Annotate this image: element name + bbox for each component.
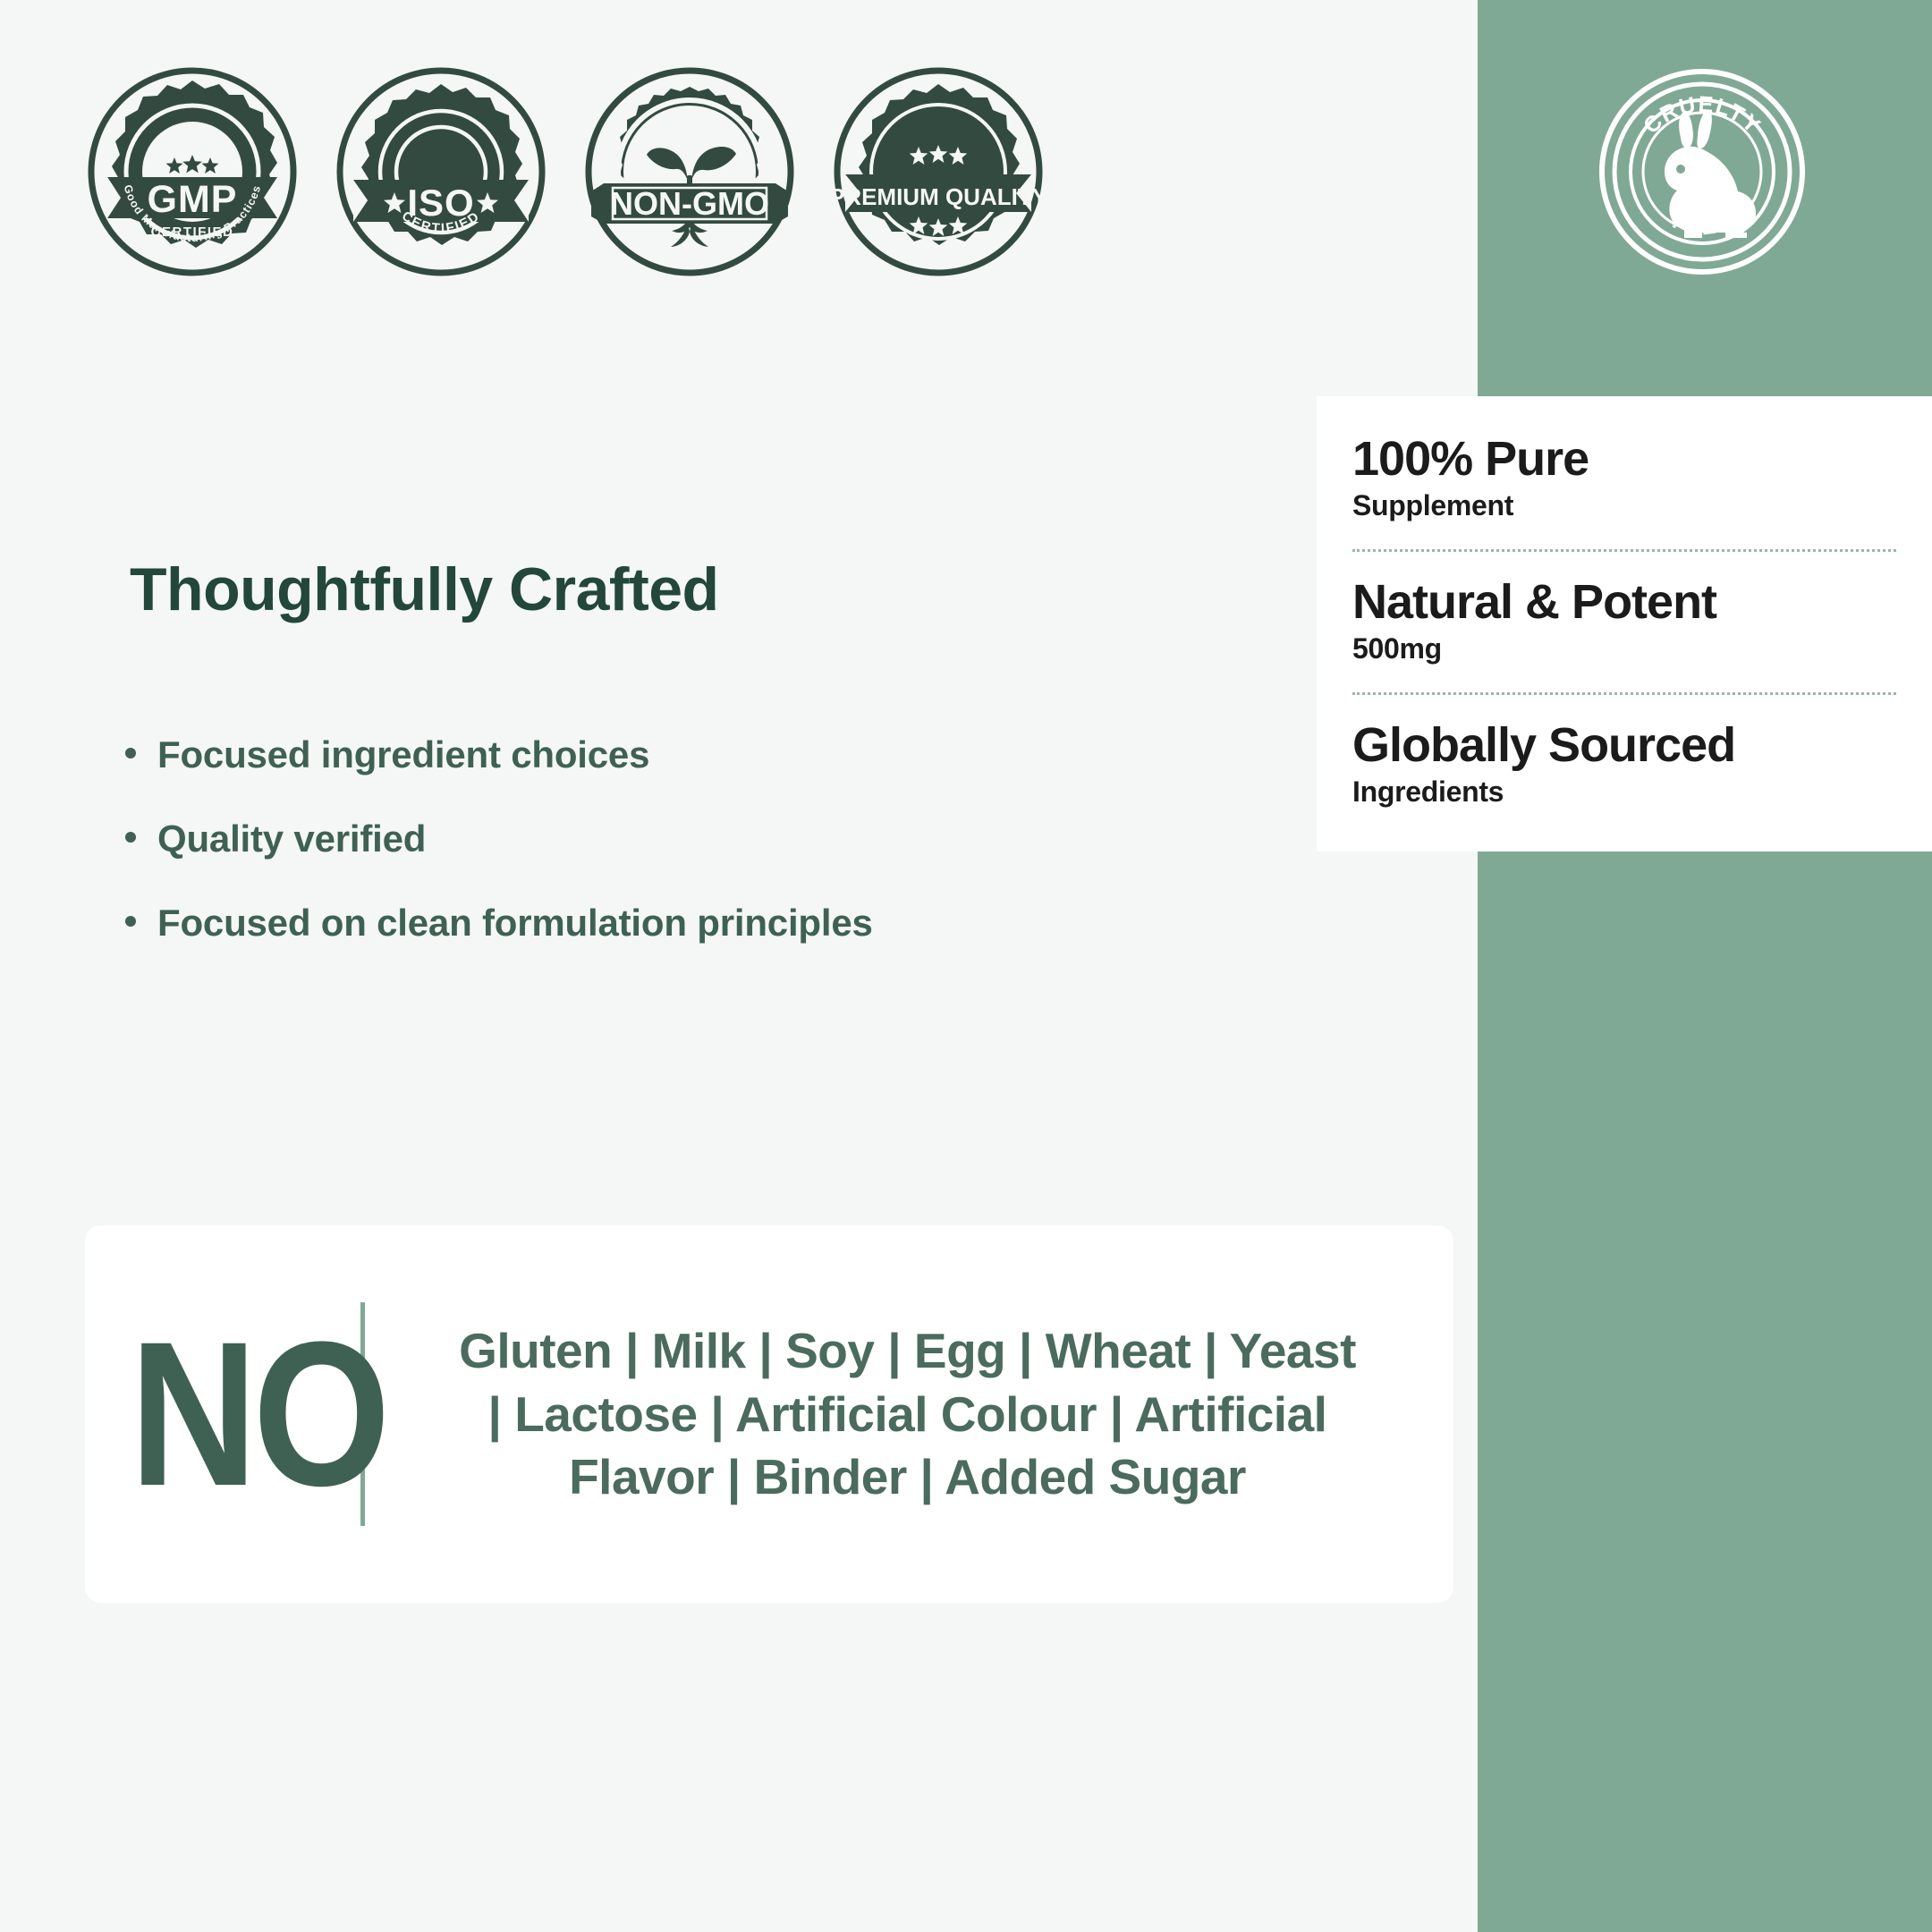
free-from-line: Gluten | Milk | Soy | Egg | Wheat | Yeas… [392, 1319, 1423, 1382]
svg-text:NON-GMO: NON-GMO [610, 185, 769, 222]
list-item: Quality verified [125, 818, 1288, 860]
highlight-subtitle: Ingredients [1352, 775, 1896, 809]
highlight-title: 100% Pure [1352, 434, 1896, 485]
highlight-block-potent: Natural & Potent 500mg [1352, 577, 1896, 665]
free-from-line: Flavor | Binder | Added Sugar [392, 1445, 1423, 1508]
list-item: Focused ingredient choices [125, 733, 1288, 776]
non-gmo-sprout-badge-icon: NON-GMO [582, 64, 797, 279]
premium-quality-badge-icon: PREMIUM QUALITY [831, 64, 1046, 279]
highlight-title: Globally Sourced [1352, 720, 1896, 771]
bullet-label: Focused ingredient choices [157, 733, 649, 776]
feature-bullet-list: Focused ingredient choices Quality verif… [125, 733, 1288, 986]
highlight-title: Natural & Potent [1352, 577, 1896, 628]
infographic-canvas: GMP CERTIFIED Good Manufacturing Practic… [0, 0, 1932, 1932]
right-green-panel [1478, 0, 1932, 1932]
card-divider [1352, 692, 1896, 695]
highlight-block-sourced: Globally Sourced Ingredients [1352, 720, 1896, 809]
iso-certified-badge-icon: ISO CERTIFIED [334, 64, 548, 279]
cruelty-free-rabbit-badge-icon: CRUELTY FREE [1595, 64, 1809, 279]
free-from-line: | Lactose | Artificial Colour | Artifici… [392, 1383, 1423, 1445]
bullet-dot-icon [125, 832, 136, 843]
highlight-subtitle: 500mg [1352, 631, 1896, 665]
product-highlights-card: 100% Pure Supplement Natural & Potent 50… [1317, 396, 1932, 852]
free-from-panel: NO Gluten | Milk | Soy | Egg | Wheat | Y… [85, 1225, 1453, 1603]
bullet-dot-icon [125, 916, 136, 927]
bullet-label: Focused on clean formulation principles [157, 902, 873, 945]
list-item: Focused on clean formulation principles [125, 902, 1288, 945]
bullet-dot-icon [125, 748, 136, 758]
card-divider [1352, 549, 1896, 552]
highlight-subtitle: Supplement [1352, 488, 1896, 522]
gmp-certified-badge-icon: GMP CERTIFIED Good Manufacturing Practic… [85, 64, 300, 279]
svg-text:PREMIUM QUALITY: PREMIUM QUALITY [831, 183, 1046, 210]
no-word: NO [130, 1330, 314, 1499]
highlight-block-pure: 100% Pure Supplement [1352, 434, 1896, 522]
page-title: Thoughtfully Crafted [130, 555, 719, 624]
certification-badge-row: GMP CERTIFIED Good Manufacturing Practic… [0, 64, 1932, 279]
free-from-list: Gluten | Milk | Soy | Egg | Wheat | Yeas… [365, 1319, 1453, 1508]
bullet-label: Quality verified [157, 818, 426, 860]
svg-text:GMP: GMP [148, 178, 238, 221]
